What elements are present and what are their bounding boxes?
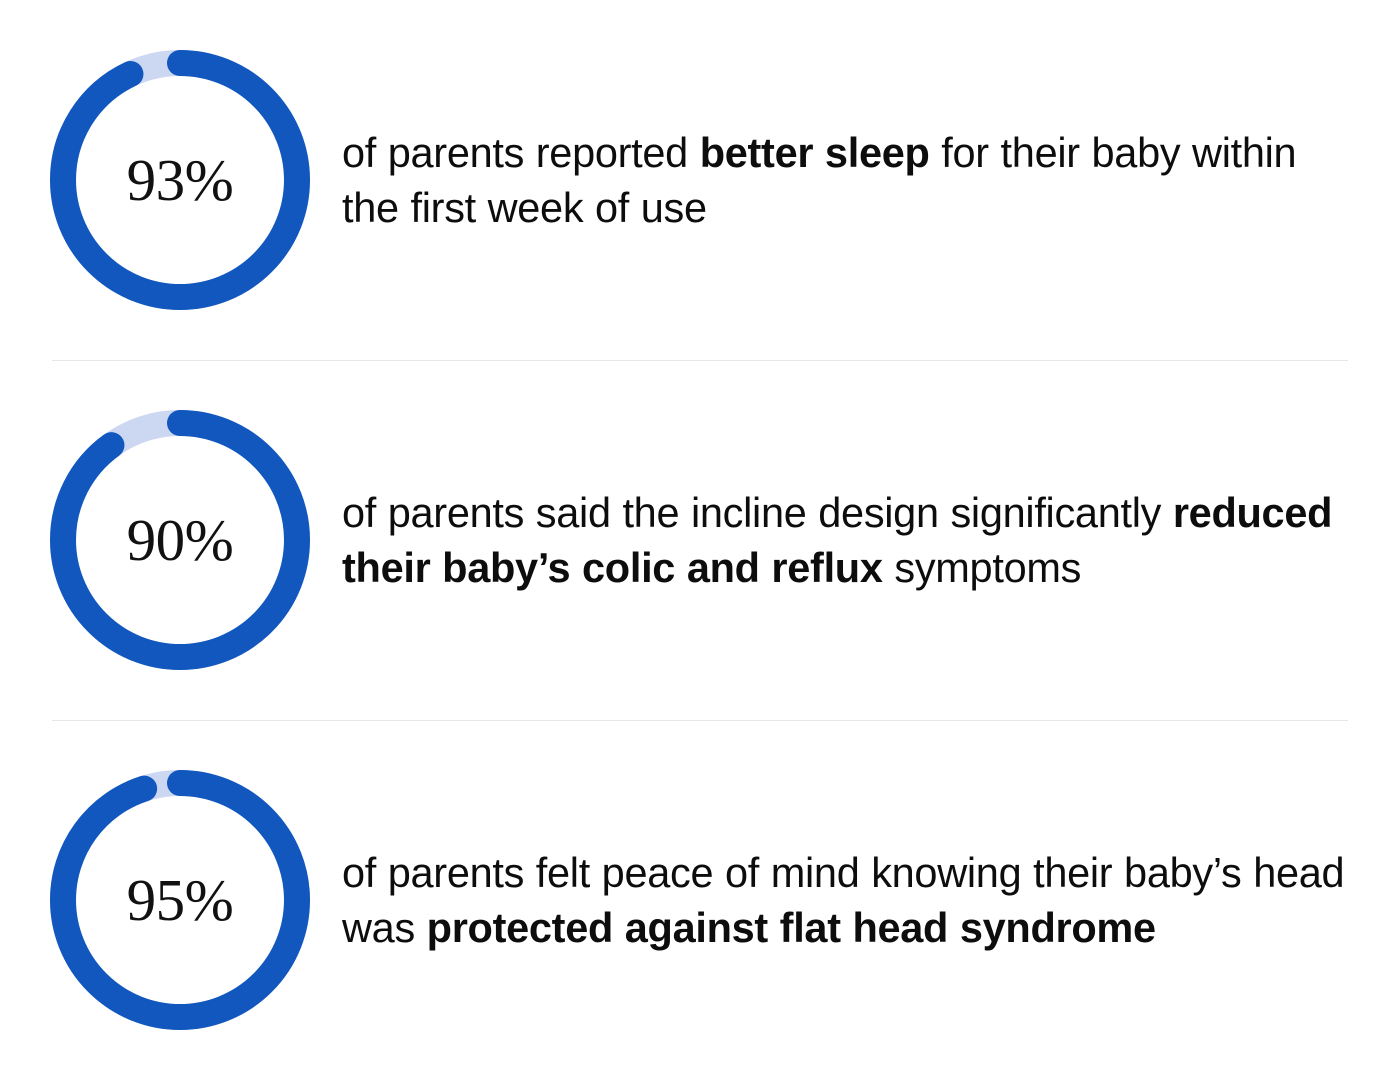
donut-chart-93: 93%	[46, 46, 314, 314]
donut-percent-label: 90%	[127, 511, 234, 570]
emphasis-text: protected against flat head syndrome	[427, 904, 1156, 951]
donut-chart-90: 90%	[46, 406, 314, 674]
stat-description: of parents felt peace of mind knowing th…	[314, 845, 1360, 955]
body-text: of parents said the incline design signi…	[342, 489, 1173, 536]
stat-row: 93% of parents reported better sleep for…	[0, 0, 1400, 360]
donut-percent-label: 93%	[127, 151, 234, 210]
stat-row: 90% of parents said the incline design s…	[0, 360, 1400, 720]
body-text: of parents reported	[342, 129, 700, 176]
stat-description: of parents said the incline design signi…	[314, 485, 1360, 595]
stat-row: 95% of parents felt peace of mind knowin…	[0, 720, 1400, 1080]
emphasis-text: better sleep	[700, 129, 930, 176]
donut-chart-95: 95%	[46, 766, 314, 1034]
statistics-list: 93% of parents reported better sleep for…	[0, 0, 1400, 1080]
stat-description: of parents reported better sleep for the…	[314, 125, 1360, 235]
body-text: symptoms	[883, 544, 1081, 591]
donut-percent-label: 95%	[127, 871, 234, 930]
